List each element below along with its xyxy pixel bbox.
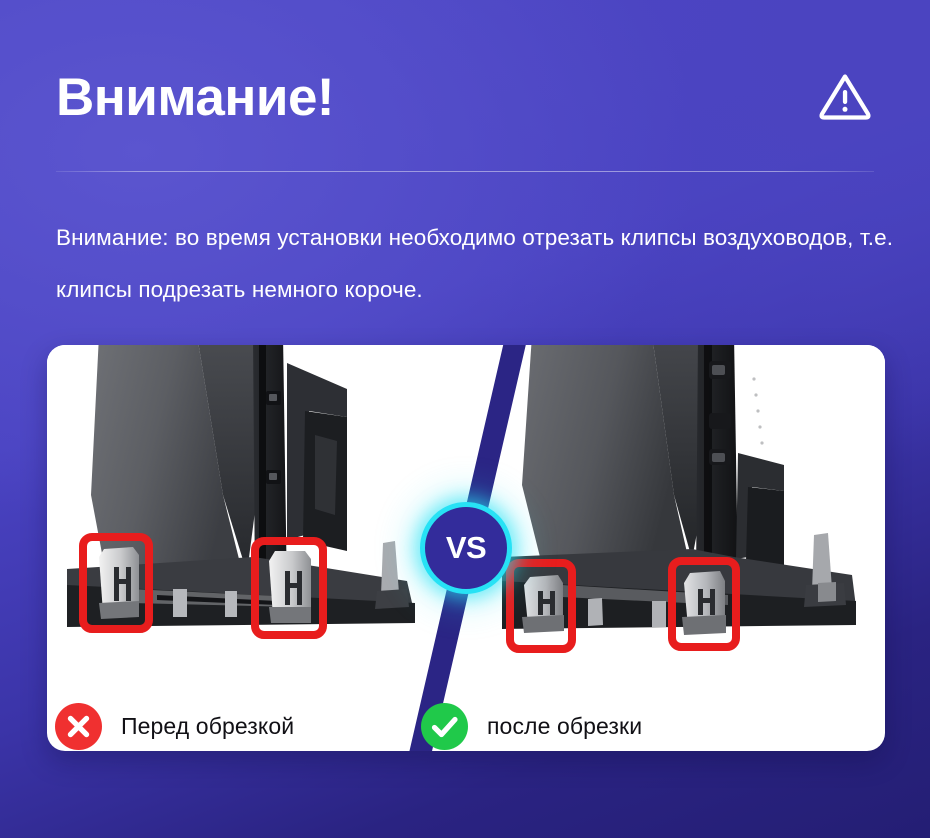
photo-after-trimming — [466, 345, 885, 685]
vs-label: VS — [446, 530, 486, 566]
comparison-labels: Перед обрезкой после обрезки — [47, 685, 885, 751]
page-title: Внимание! — [56, 71, 334, 124]
green-check-circle-icon — [421, 703, 468, 750]
header: Внимание! — [56, 52, 874, 142]
label-before-trimming-text: Перед обрезкой — [121, 713, 294, 740]
red-x-circle-icon — [55, 703, 102, 750]
label-after-trimming: после обрезки — [421, 703, 642, 750]
warning-triangle-icon — [816, 68, 874, 126]
warning-paragraph: Внимание: во время установки необходимо … — [56, 212, 896, 316]
header-divider — [56, 171, 874, 172]
comparison-card: VS Перед обрезкой — [47, 345, 885, 751]
label-before-trimming: Перед обрезкой — [55, 703, 294, 750]
vs-badge: VS — [420, 502, 512, 594]
promo-banner: Внимание! Внимание: во время установки н… — [0, 0, 930, 838]
label-after-trimming-text: после обрезки — [487, 713, 642, 740]
photo-before-trimming — [47, 345, 466, 685]
